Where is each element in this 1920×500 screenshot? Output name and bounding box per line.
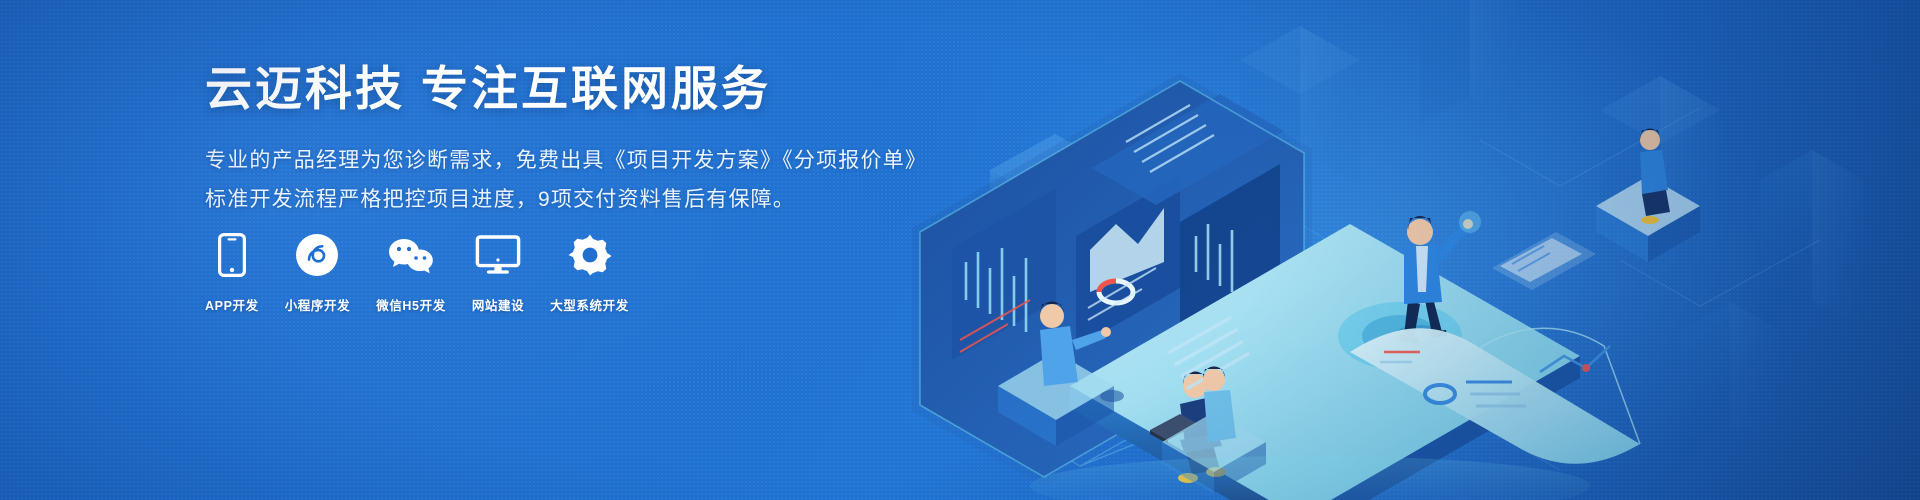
- service-list: APP开发 小程序开发 微信: [205, 232, 629, 314]
- monitor-icon: [475, 232, 521, 278]
- floating-card: [1492, 232, 1596, 290]
- service-label: 微信H5开发: [376, 295, 446, 314]
- service-label: APP开发: [205, 295, 259, 314]
- subtitle-line-2: 标准开发流程严格把控项目进度，9项交付资料售后有保障。: [205, 181, 965, 220]
- service-item-system[interactable]: 大型系统开发: [550, 232, 629, 314]
- subtitle-line-1: 专业的产品经理为您诊断需求，免费出具《项目开发方案》《分项报价单》: [205, 142, 965, 181]
- service-label: 小程序开发: [285, 295, 351, 314]
- isometric-data-dashboard-illustration: [880, 0, 1920, 500]
- service-item-miniprogram[interactable]: 小程序开发: [285, 232, 351, 314]
- service-label: 网站建设: [472, 295, 524, 314]
- service-item-website[interactable]: 网站建设: [472, 232, 524, 314]
- service-label: 大型系统开发: [550, 295, 629, 314]
- mobile-phone-icon: [218, 232, 246, 278]
- gear-icon: [567, 232, 613, 278]
- service-item-app[interactable]: APP开发: [205, 232, 259, 314]
- person-on-block-right: [1596, 128, 1700, 262]
- promo-banner: 云迈科技 专注互联网服务 专业的产品经理为您诊断需求，免费出具《项目开发方案》《…: [0, 0, 1920, 500]
- mini-program-icon: [295, 232, 339, 278]
- service-item-wechat[interactable]: 微信H5开发: [376, 232, 446, 314]
- headline-block: 云迈科技 专注互联网服务 专业的产品经理为您诊断需求，免费出具《项目开发方案》《…: [205, 62, 965, 220]
- page-title: 云迈科技 专注互联网服务: [205, 62, 965, 116]
- wechat-icon: [386, 232, 436, 278]
- subtitle-block: 专业的产品经理为您诊断需求，免费出具《项目开发方案》《分项报价单》 标准开发流程…: [205, 142, 965, 220]
